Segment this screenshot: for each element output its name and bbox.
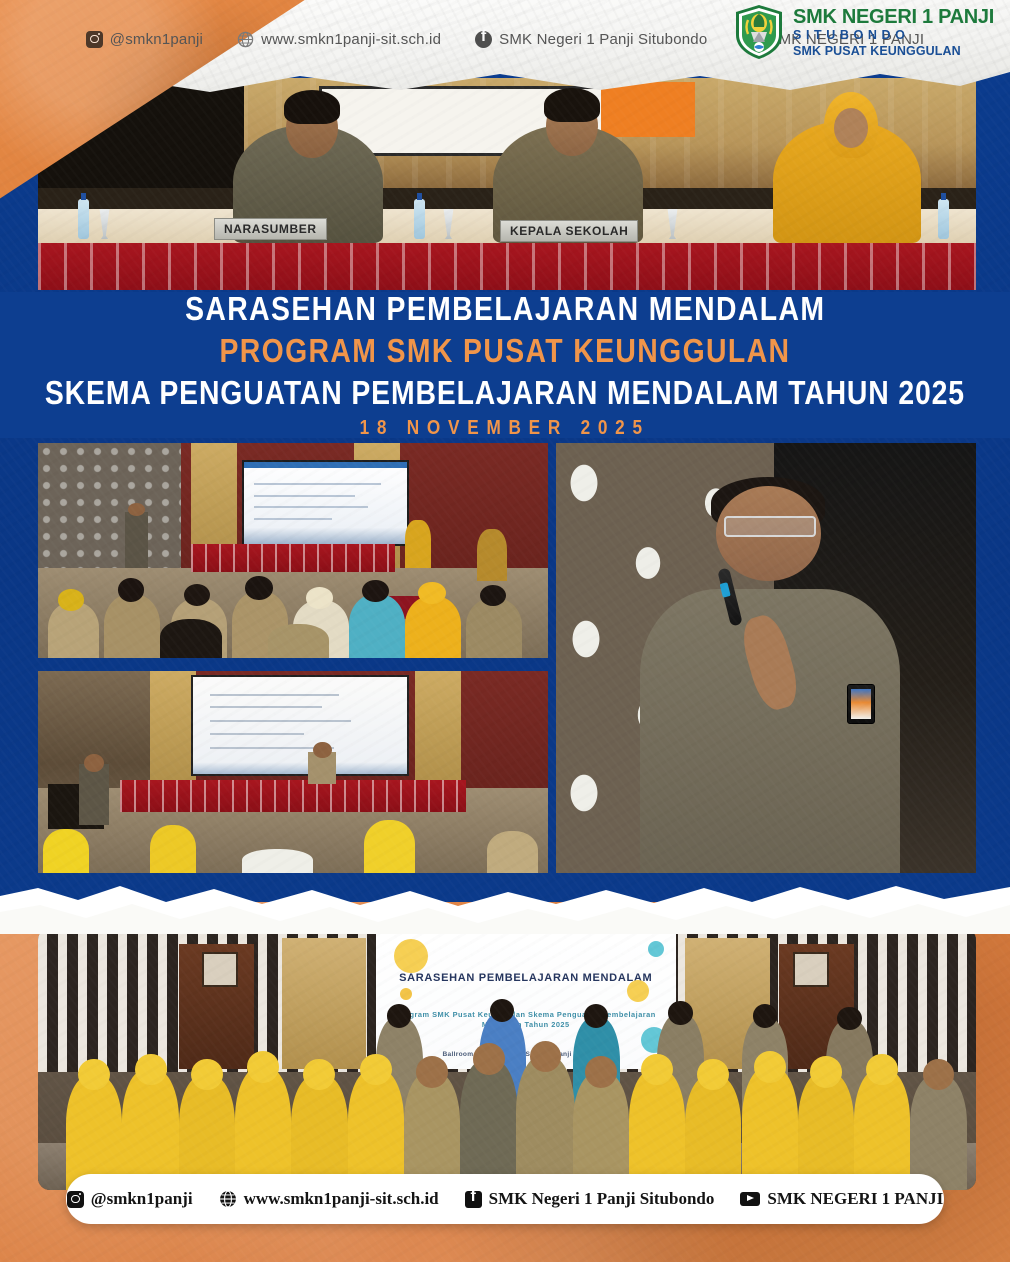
footer-website-label: www.smkn1panji-sit.sch.id [244,1189,439,1209]
title-date: 18 NOVEMBER 2025 [360,418,650,438]
logo-line-2: SITUBONDO [793,29,994,42]
footer-facebook-label: SMK Negeri 1 Panji Situbondo [489,1189,715,1209]
globe-icon [219,1190,237,1208]
situbondo-shield-icon [734,4,784,60]
logo-line-1: SMK NEGERI 1 PANJI [793,7,994,27]
globe-icon [237,31,254,48]
title-block: SARASEHAN PEMBELAJARAN MENDALAM PROGRAM … [0,292,1010,438]
footer-contact-bar: @smkn1panji www.smkn1panji-sit.sch.id SM… [66,1174,944,1224]
header-facebook[interactable]: SMK Negeri 1 Panji Situbondo [475,31,707,48]
facebook-icon [465,1191,482,1208]
stage-banner-subtitle: Program SMK Pusat Keunggulan Skema Pengu… [376,1010,676,1030]
school-logo-block: SMK NEGERI 1 PANJI SITUBONDO SMK PUSAT K… [734,4,994,60]
header-website[interactable]: www.smkn1panji-sit.sch.id [237,31,441,48]
facebook-icon [475,31,492,48]
photo-speaker-portrait [556,443,976,873]
title-line-1: SARASEHAN PEMBELAJARAN MENDALAM [185,292,825,325]
header-facebook-label: SMK Negeri 1 Panji Situbondo [499,31,707,48]
logo-line-3: SMK PUSAT KEUNGGULAN [793,45,994,58]
header-instagram-label: @smkn1panji [110,31,203,48]
nameplate-kepala-sekolah: KEPALA SEKOLAH [500,220,638,242]
footer-youtube[interactable]: SMK NEGERI 1 PANJI [740,1189,943,1209]
title-line-2: PROGRAM SMK PUSAT KEUNGGULAN [220,334,791,367]
instagram-icon [67,1191,84,1208]
footer-website[interactable]: www.smkn1panji-sit.sch.id [219,1189,439,1209]
youtube-icon [740,1192,760,1206]
footer-facebook[interactable]: SMK Negeri 1 Panji Situbondo [465,1189,715,1209]
photo-seminar-audience [38,443,548,658]
header-instagram[interactable]: @smkn1panji [86,31,203,48]
instagram-icon [86,31,103,48]
footer-instagram-label: @smkn1panji [91,1189,193,1209]
photo-presentation [38,671,548,873]
footer-instagram[interactable]: @smkn1panji [67,1189,193,1209]
header-website-label: www.smkn1panji-sit.sch.id [261,31,441,48]
event-poster: NARASUMBER KEPALA SEKOLAH @smkn1panji ww… [0,0,1010,1262]
photo-group-shot: SARASEHAN PEMBELAJARAN MENDALAM Program … [38,928,976,1190]
footer-youtube-label: SMK NEGERI 1 PANJI [767,1189,943,1209]
stage-banner-title: SARASEHAN PEMBELAJARAN MENDALAM [399,972,652,986]
nameplate-narasumber: NARASUMBER [214,218,327,240]
title-line-3: SKEMA PENGUATAN PEMBELAJARAN MENDALAM TA… [45,376,965,409]
